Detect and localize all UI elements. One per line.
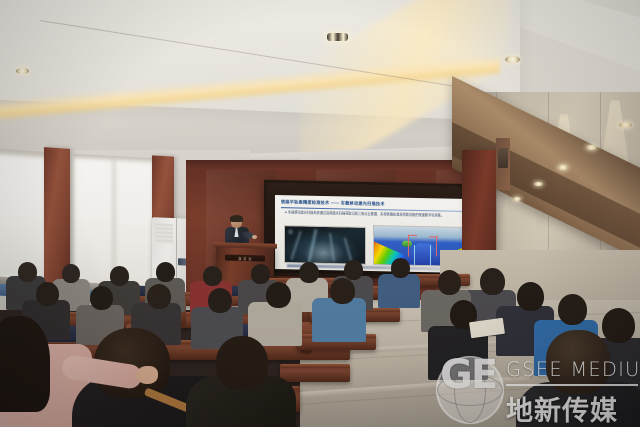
wall-mounted-speaker: [498, 148, 508, 168]
ceiling-downlight-left-icon: [16, 68, 29, 74]
wall-downlight-1-icon: [513, 197, 521, 201]
watermark-text-block: GSEE MEDIUM 地新传媒: [506, 358, 640, 427]
wall-downlight-3-icon: [558, 165, 568, 170]
lidar-gantry-right: [429, 236, 438, 238]
lidar-vegetation: [402, 241, 412, 247]
wall-downlight-5-icon: [619, 122, 632, 128]
ceiling-downlight-center-icon: [327, 33, 348, 41]
lidar-gantry-left: [408, 235, 417, 237]
wall-downlight-4-icon: [586, 145, 597, 150]
lidar-pole-right: [436, 236, 437, 256]
lectern-sign-text: 演 讲 台: [238, 255, 252, 260]
bench-right-4: [280, 364, 350, 382]
ac-vent-grille: [155, 223, 173, 244]
gsee-logo-letters: GE: [440, 362, 500, 418]
ceiling-downlight-right-icon: [505, 56, 520, 63]
lidar-lane-marking-2: [430, 245, 431, 265]
night-road-camera-image: [284, 225, 366, 265]
watermark-divider: [506, 384, 638, 386]
wall-downlight-2-icon: [534, 182, 543, 186]
presenter-hand: [252, 235, 257, 239]
watermark-english: GSEE MEDIUM: [506, 358, 640, 381]
photograph-lecture-hall: 铁路平轨高精度检测技术 —— 车载移动激光扫描技术 ● 车载移动激光扫描系统通过…: [0, 0, 640, 427]
hand: [136, 366, 158, 384]
watermark-chinese: 地新传媒: [506, 389, 640, 427]
lidar-pole-left: [408, 235, 409, 257]
lidar-lane-marking-1: [414, 245, 415, 265]
presenter-hair: [230, 215, 243, 222]
lectern-sign: 演 讲 台: [225, 254, 265, 261]
gsee-logo-icon: GE: [436, 356, 504, 424]
lectern-top: [213, 242, 277, 249]
broadcaster-watermark: GE GSEE MEDIUM 地新传媒: [436, 348, 640, 427]
